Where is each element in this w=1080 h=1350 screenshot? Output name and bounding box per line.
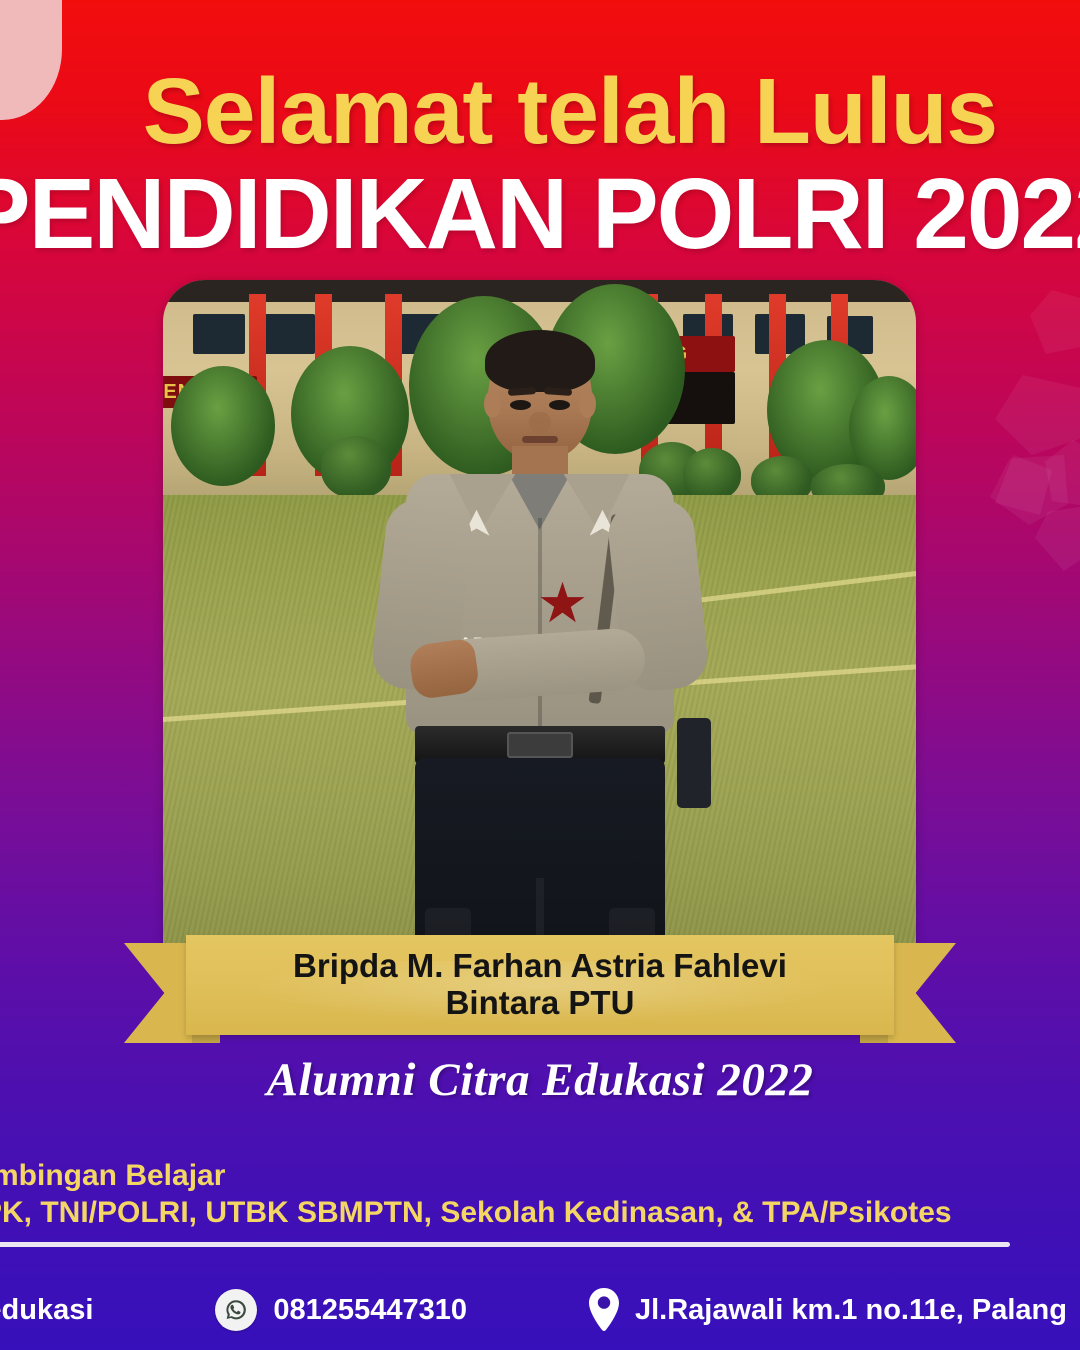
whatsapp-icon bbox=[215, 1289, 257, 1331]
building-window bbox=[263, 314, 315, 354]
contact-row: raedukasi 081255447310 Jl.Rajawali km.1 … bbox=[0, 1285, 1080, 1335]
tutoring-info-block: Bimbingan Belajar PPK, TNI/POLRI, UTBK S… bbox=[0, 1158, 1080, 1231]
alumni-caption: Alumni Citra Edukasi 2022 bbox=[0, 1053, 1080, 1107]
officer-belt-pouch bbox=[677, 718, 711, 808]
officer-eyebrow bbox=[543, 387, 571, 396]
headline-secondary: PENDIDIKAN POLRI 2022 bbox=[0, 157, 1080, 272]
awardee-rank: Bintara PTU bbox=[446, 985, 635, 1022]
officer-shirt-placket bbox=[538, 518, 542, 733]
uniform-patch bbox=[540, 582, 586, 626]
building-window bbox=[193, 314, 245, 354]
footer-divider bbox=[0, 1242, 1010, 1247]
officer-ear bbox=[579, 390, 596, 418]
tutoring-title: Bimbingan Belajar bbox=[0, 1158, 1080, 1195]
contact-whatsapp[interactable]: 081255447310 bbox=[215, 1289, 467, 1331]
contact-address[interactable]: Jl.Rajawali km.1 no.11e, Palang bbox=[585, 1287, 1067, 1333]
officer-trousers bbox=[415, 758, 665, 952]
tutoring-programs: PPK, TNI/POLRI, UTBK SBMPTN, Sekolah Ked… bbox=[0, 1195, 1080, 1232]
address-text: Jl.Rajawali km.1 no.11e, Palang bbox=[635, 1294, 1067, 1327]
decorative-polygon bbox=[1045, 440, 1080, 512]
officer-nose bbox=[529, 412, 551, 434]
decorative-polygon bbox=[995, 375, 1080, 455]
police-officer-figure: ARHAN POLR bbox=[375, 334, 705, 952]
officer-eye bbox=[510, 400, 531, 410]
decorative-polygon bbox=[1035, 505, 1080, 571]
officer-belt-buckle bbox=[507, 732, 573, 758]
contact-instagram[interactable]: raedukasi bbox=[0, 1294, 93, 1327]
decorative-polygon bbox=[1030, 290, 1080, 354]
decorative-polygon bbox=[990, 455, 1068, 525]
instagram-handle: raedukasi bbox=[0, 1294, 93, 1327]
building-roof bbox=[163, 280, 916, 302]
officer-mouth bbox=[522, 436, 558, 443]
officer-eye bbox=[549, 400, 570, 410]
decorative-polygon bbox=[992, 455, 1052, 515]
tree bbox=[171, 366, 275, 486]
corner-circle-decoration bbox=[0, 0, 62, 120]
awardee-name: Bripda M. Farhan Astria Fahlevi bbox=[293, 948, 787, 985]
headline-primary: Selamat telah Lulus bbox=[143, 58, 997, 165]
congratulations-poster: Selamat telah Lulus PENDIDIKAN POLRI 202… bbox=[0, 0, 1080, 1350]
officer-hair bbox=[485, 330, 595, 392]
officer-eyebrow bbox=[507, 387, 535, 396]
whatsapp-number: 081255447310 bbox=[273, 1294, 467, 1327]
graduate-photo: ENGAH ENG bbox=[163, 280, 916, 952]
location-pin-icon bbox=[585, 1287, 623, 1333]
ribbon-body: Bripda M. Farhan Astria Fahlevi Bintara … bbox=[186, 935, 894, 1035]
officer-head bbox=[488, 334, 592, 460]
name-ribbon: Bripda M. Farhan Astria Fahlevi Bintara … bbox=[124, 935, 956, 1045]
photo-scene: ENGAH ENG bbox=[163, 280, 916, 952]
officer-ear bbox=[484, 390, 501, 418]
